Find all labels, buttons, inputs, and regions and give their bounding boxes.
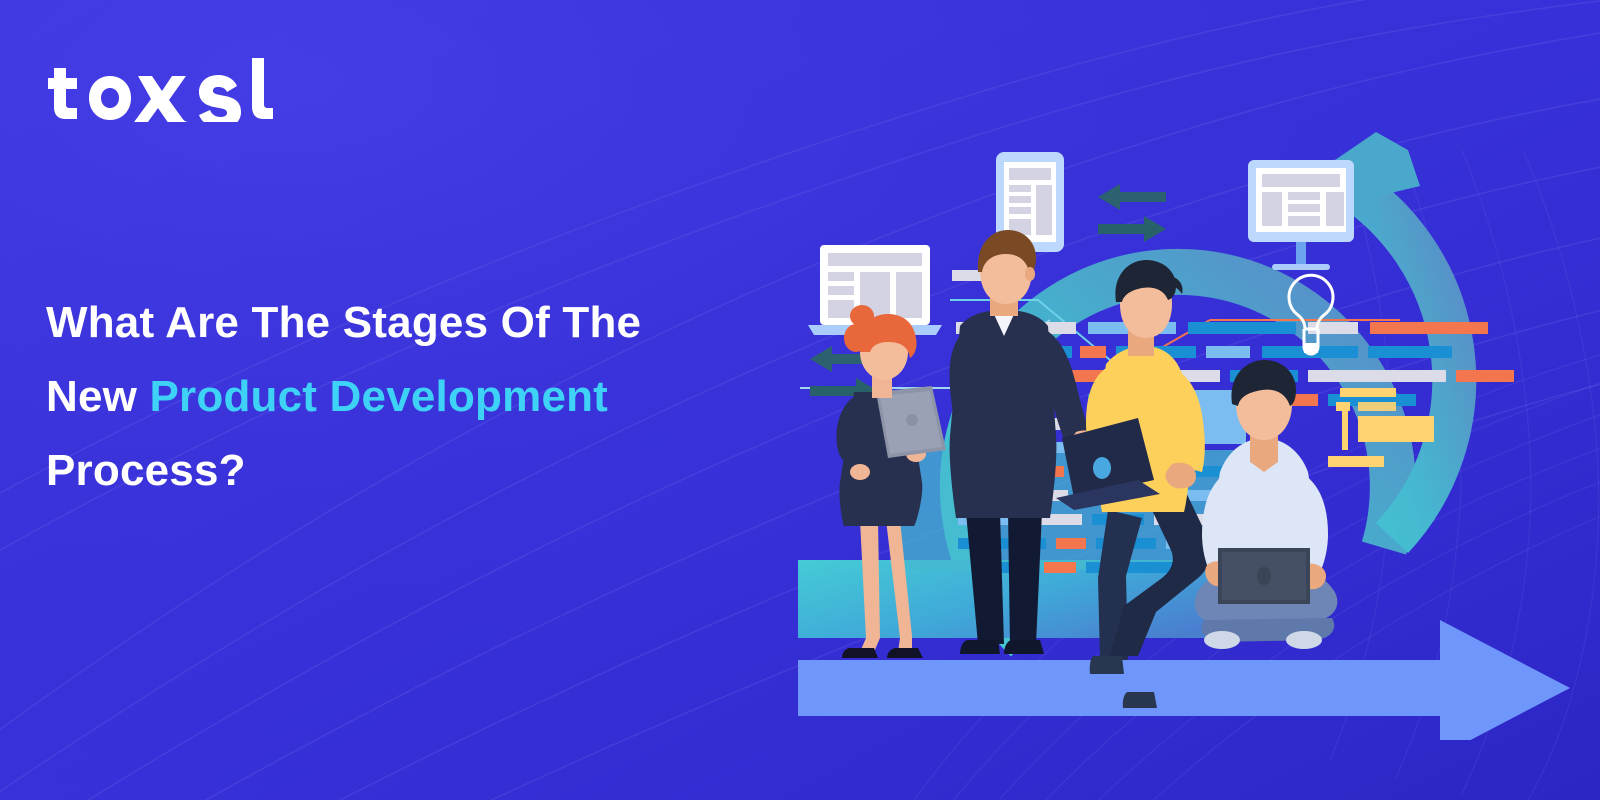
exchange-arrows-icon: [1098, 184, 1166, 242]
blog-banner: What Are The Stages Of The New Product D…: [0, 0, 1600, 800]
headline-highlight: Product Development: [150, 372, 609, 421]
toxsl-logo[interactable]: [46, 52, 276, 122]
monitor-wireframe-icon: [1248, 160, 1354, 270]
headline-line-1: What Are The Stages Of The: [46, 298, 641, 347]
headline-line-3: Process?: [46, 446, 246, 495]
headline-line-2-prefix: New: [46, 372, 150, 421]
lightbulb-base: [1304, 343, 1318, 353]
new-product-development-illustration: [780, 120, 1600, 680]
forward-arrow-graphic: [798, 620, 1570, 756]
person-man-yellow-laptop: [1056, 260, 1211, 708]
page-title: What Are The Stages Of The New Product D…: [46, 286, 766, 508]
